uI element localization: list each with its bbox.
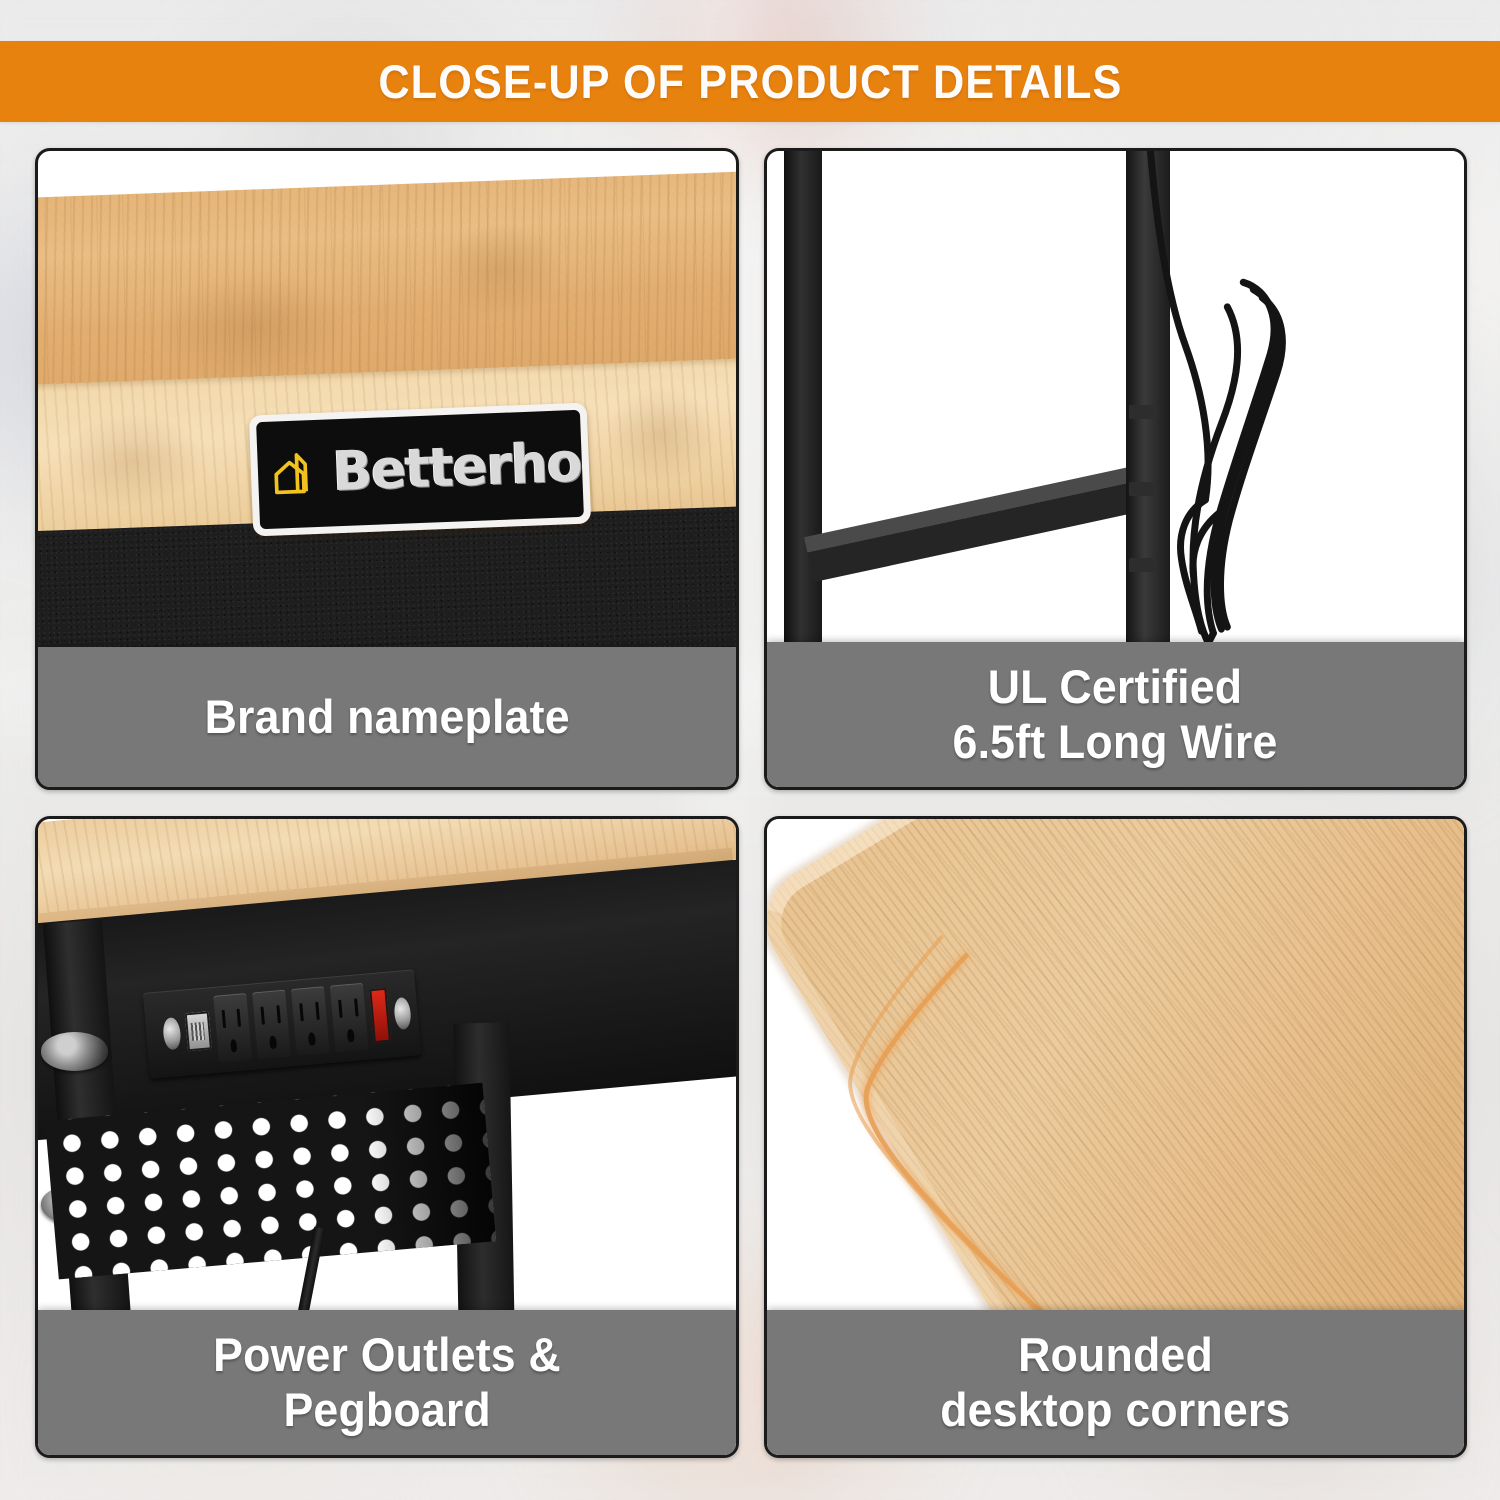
panel-caption-power-outlets-pegboard: Power Outlets & Pegboard (38, 1310, 736, 1455)
ac-outlet[interactable] (330, 983, 369, 1053)
panel-ul-certified-wire[interactable]: UL Certified 6.5ft Long Wire (764, 148, 1468, 790)
ac-outlet[interactable] (291, 987, 330, 1057)
brand-name-text: Betterhood (331, 429, 584, 504)
caption-line: UL Certified (988, 660, 1243, 715)
power-switch[interactable] (369, 988, 390, 1042)
caption-line: Power Outlets & (213, 1328, 561, 1383)
ac-outlet[interactable] (252, 990, 291, 1060)
panel-caption-brand-nameplate: Brand nameplate (38, 647, 736, 787)
product-detail-panel-grid: Betterhood Brand nameplate (35, 148, 1467, 1458)
caption-line: Rounded (1018, 1328, 1213, 1383)
adjustment-knob[interactable] (41, 1032, 107, 1071)
header-banner: CLOSE-UP OF PRODUCT DETAILS (0, 41, 1500, 122)
usb-port[interactable] (185, 1012, 212, 1052)
caption-line: Pegboard (283, 1383, 490, 1438)
panel-brand-nameplate[interactable]: Betterhood Brand nameplate (35, 148, 739, 790)
brand-nameplate-plate: Betterhood (249, 402, 592, 536)
panel-rounded-desktop-corners[interactable]: Rounded desktop corners (764, 816, 1468, 1458)
caption-line: 6.5ft Long Wire (953, 715, 1278, 770)
page-title: CLOSE-UP OF PRODUCT DETAILS (378, 54, 1122, 109)
mounting-screw-icon (163, 1017, 182, 1051)
panel-caption-rounded-desktop-corners: Rounded desktop corners (767, 1310, 1465, 1455)
house-building-outline-icon (273, 439, 328, 507)
caption-line: desktop corners (940, 1383, 1290, 1438)
ac-outlet[interactable] (213, 994, 252, 1064)
panel-caption-ul-certified-wire: UL Certified 6.5ft Long Wire (767, 642, 1465, 787)
panel-power-outlets-pegboard[interactable]: Power Outlets & Pegboard (35, 816, 739, 1458)
caption-line: Brand nameplate (204, 690, 569, 745)
mounting-screw-icon (393, 997, 412, 1031)
